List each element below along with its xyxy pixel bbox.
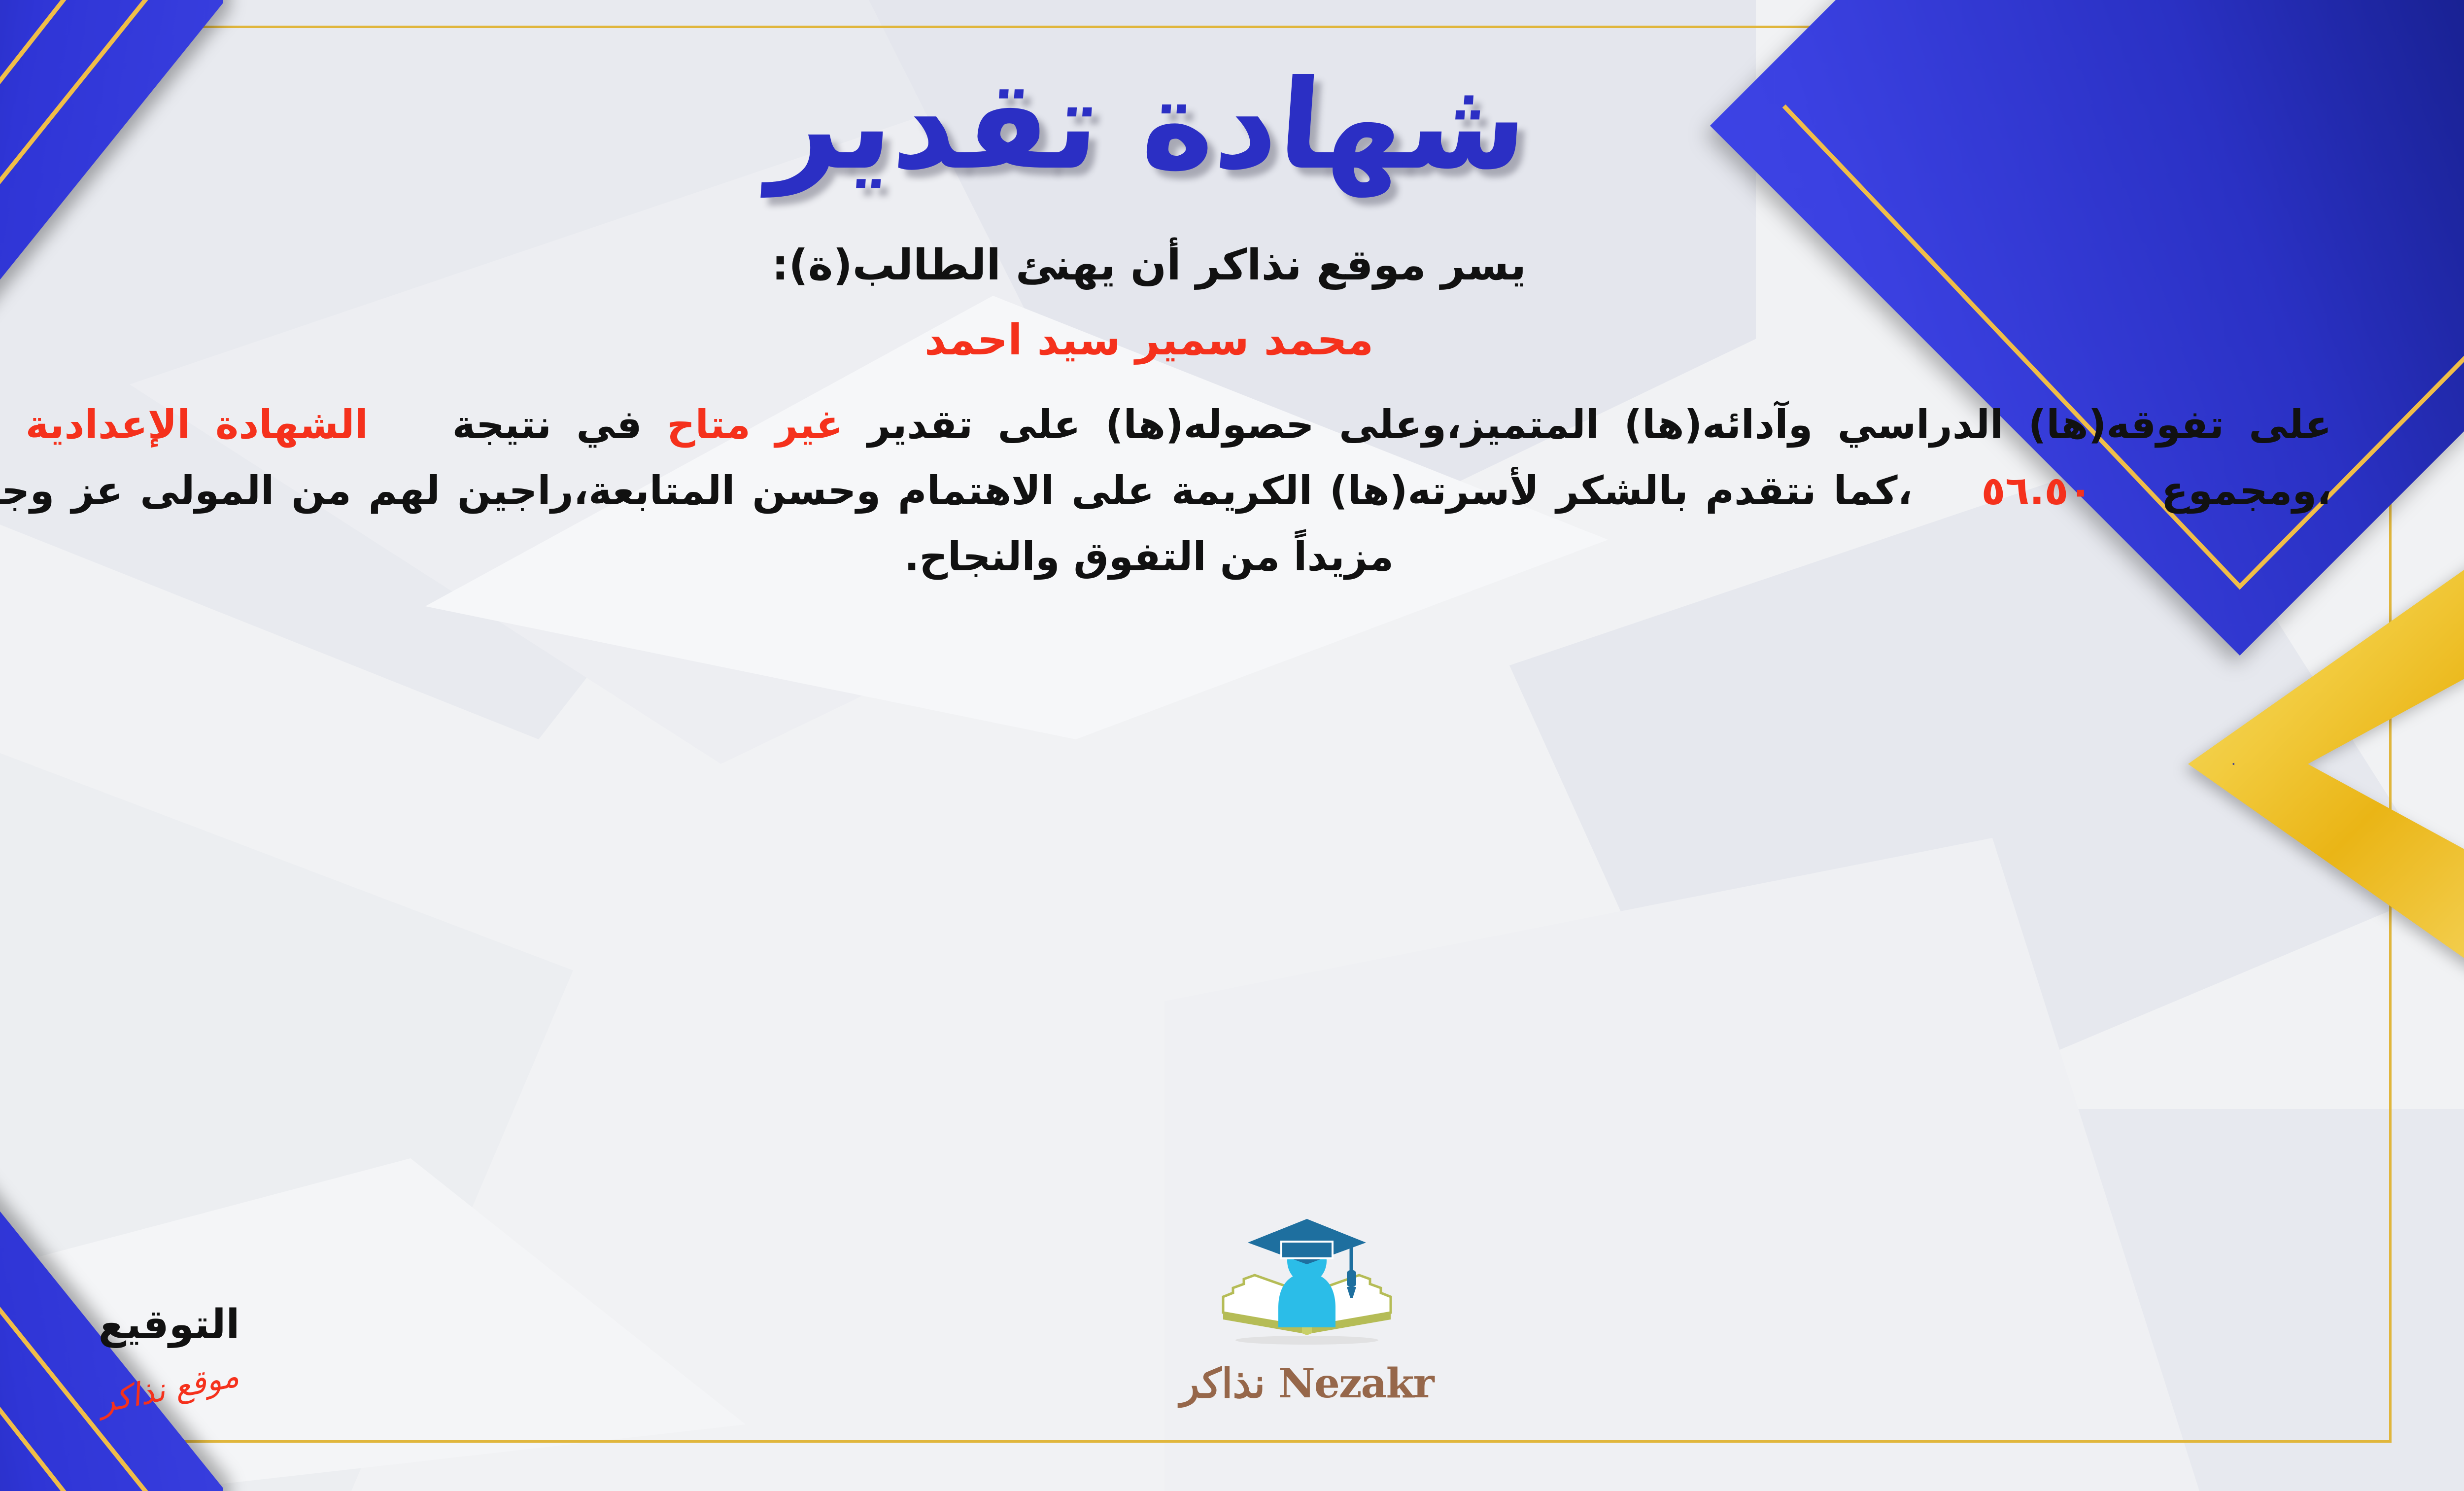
total-score: ٥٦.٥٠ <box>1981 468 2092 514</box>
body-part-1: على تفوقه(ها) الدراسي وآدائه(ها) المتميز… <box>868 402 2332 448</box>
signature-mark: موقع نذاكر <box>96 1357 242 1420</box>
body-part-4: ،كما نتقدم بالشكر لأسرته(ها) الكريمة على… <box>0 468 1913 580</box>
page-title: شهادة تقدير <box>766 54 1532 196</box>
logo-wordmark: Nezakr نذاكر <box>1180 1360 1433 1407</box>
signature-area: التوقيع موقع نذاكر <box>0 1301 342 1407</box>
exam-name: الشهادة الإعدادية <box>26 402 368 448</box>
greeting-line: يسر موقع نذاكر أن يهنئ الطالب(ة): <box>772 241 1526 290</box>
certificate-content: شهادة تقدير يسر موقع نذاكر أن يهنئ الطال… <box>0 0 2464 1491</box>
site-logo: Nezakr نذاكر <box>1085 1209 1529 1407</box>
graduation-book-logo-icon <box>1203 1209 1410 1357</box>
student-name: محمد سمير سيد احمد <box>924 315 1373 365</box>
body-part-2: في نتيجة <box>452 402 642 448</box>
grade-value: غير متاح <box>667 402 843 448</box>
certificate-footer: Nezakr نذاكر التوقيع موقع نذاكر <box>0 1209 2464 1407</box>
certificate-body: على تفوقه(ها) الدراسي وآدائه(ها) المتميز… <box>0 392 2332 590</box>
signature-label: التوقيع <box>99 1301 240 1348</box>
certificate-page: شهادة تقدير يسر موقع نذاكر أن يهنئ الطال… <box>0 0 2464 1491</box>
body-part-3: ،ومجموع <box>2161 468 2332 514</box>
